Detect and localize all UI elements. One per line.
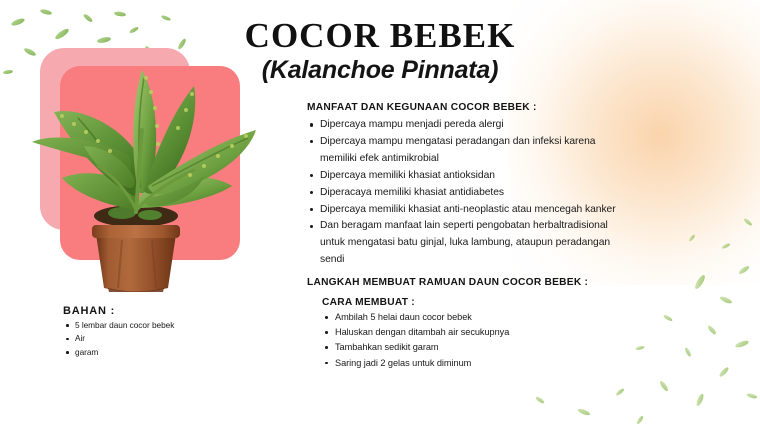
- how-to-make-section: CARA MEMBUAT : Ambilah 5 helai daun coco…: [322, 297, 742, 371]
- list-item: Dipercaya memiliki khasiat anti-neoplast…: [307, 202, 747, 219]
- list-item: Dipercaya mampu mengatasi peradangan dan…: [307, 134, 747, 151]
- list-item: 5 lembar daun cocor bebek: [63, 319, 283, 332]
- ingredients-section: BAHAN : 5 lembar daun cocor bebekAirgara…: [63, 305, 283, 359]
- how-to-make-list: Ambilah 5 helai daun cocor bebekHaluskan…: [322, 310, 742, 371]
- list-item: garam: [63, 346, 283, 359]
- list-item-continuation: sendi: [307, 252, 747, 269]
- list-item: Haluskan dengan ditambah air secukupnya: [322, 325, 742, 340]
- benefits-section: MANFAAT DAN KEGUNAAN COCOR BEBEK : Diper…: [307, 102, 747, 269]
- page-title: COCOR BEBEK: [190, 18, 570, 55]
- list-item-continuation: untuk mengatasi batu ginjal, luka lambun…: [307, 235, 747, 252]
- ingredients-heading: BAHAN :: [63, 305, 283, 317]
- steps-heading: LANGKAH MEMBUAT RAMUAN DAUN COCOR BEBEK …: [307, 277, 747, 288]
- list-item: Saring jadi 2 gelas untuk diminum: [322, 356, 742, 371]
- list-item: Dan beragam manfaat lain seperti pengoba…: [307, 218, 747, 235]
- list-item: Dipercaya mampu menjadi pereda alergi: [307, 117, 747, 134]
- list-item: Diperacaya memiliki khasiat antidiabetes: [307, 185, 747, 202]
- list-item: Tambahkan sedikit garam: [322, 340, 742, 355]
- page-subtitle: (Kalanchoe Pinnata): [190, 57, 570, 85]
- list-item: Dipercaya memiliki khasiat antioksidan: [307, 168, 747, 185]
- benefits-list: Dipercaya mampu menjadi pereda alergiDip…: [307, 117, 747, 269]
- list-item-continuation: memiliki efek antimikrobial: [307, 151, 747, 168]
- list-item: Ambilah 5 helai daun cocor bebek: [322, 310, 742, 325]
- benefits-heading: MANFAAT DAN KEGUNAAN COCOR BEBEK :: [307, 102, 747, 113]
- list-item: Air: [63, 332, 283, 345]
- steps-section: LANGKAH MEMBUAT RAMUAN DAUN COCOR BEBEK …: [307, 277, 747, 288]
- how-to-make-heading: CARA MEMBUAT :: [322, 297, 742, 308]
- ingredients-list: 5 lembar daun cocor bebekAirgaram: [63, 319, 283, 359]
